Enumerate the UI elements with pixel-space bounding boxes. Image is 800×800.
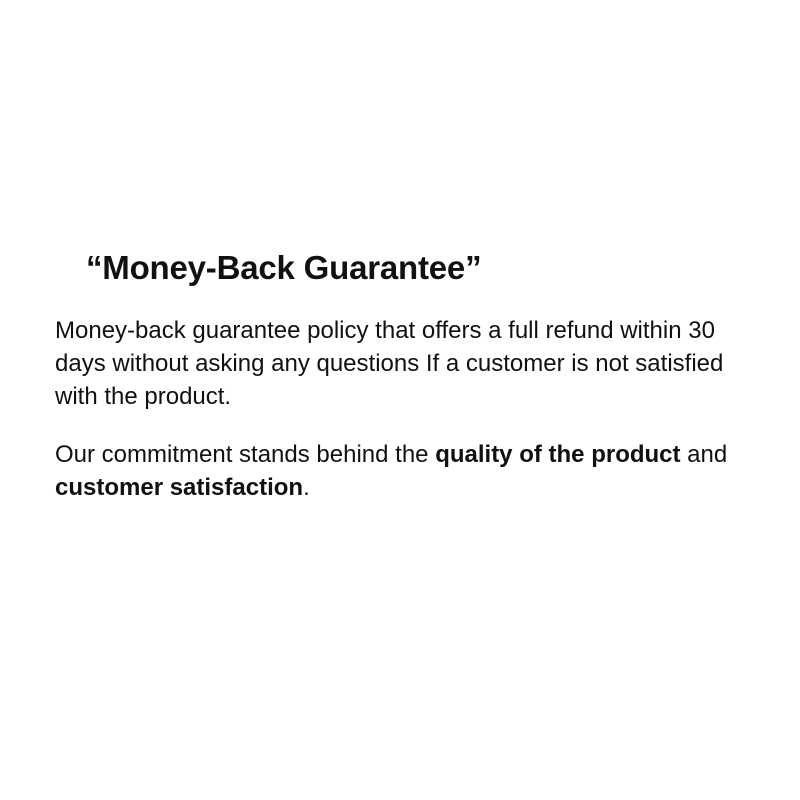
commitment-terminal-period: . [303, 474, 310, 501]
emphasis-quality-of-the-product: quality of the product [435, 441, 680, 468]
document-page: “Money-Back Guarantee” Money-back guaran… [0, 0, 800, 800]
text-content-block: “Money-Back Guarantee” Money-back guaran… [55, 248, 755, 504]
commitment-lead-text: Our commitment stands behind the [55, 441, 435, 468]
policy-summary-text: Money-back guarantee policy that offers … [55, 317, 723, 410]
policy-summary-paragraph: Money-back guarantee policy that offers … [55, 314, 755, 413]
emphasis-customer-satisfaction: customer satisfaction [55, 474, 303, 501]
commitment-statement-paragraph: Our commitment stands behind the quality… [55, 438, 767, 504]
commitment-conjunction-text: and [681, 441, 728, 468]
page-title: “Money-Back Guarantee” [86, 248, 755, 288]
